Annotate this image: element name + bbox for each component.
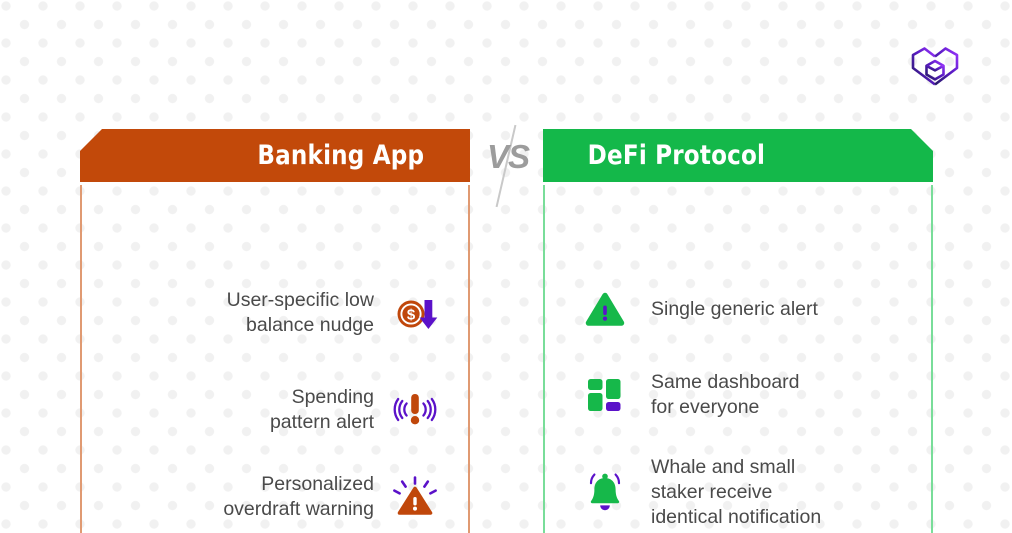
- list-item-label: User-specific low balance nudge: [227, 288, 374, 338]
- dashboard-grid-icon: [582, 372, 628, 418]
- hexagon-cube-logo-icon: [908, 43, 962, 91]
- svg-text:$: $: [407, 307, 416, 324]
- list-item-label: Personalized overdraft warning: [223, 472, 374, 522]
- list-item-label: Same dashboard for everyone: [651, 370, 800, 420]
- panel-banking-app: User-specific low balance nudge $ Spendi…: [80, 129, 470, 533]
- list-item: Single generic alert: [582, 286, 818, 332]
- list-item: Whale and small staker receive identical…: [582, 455, 821, 530]
- list-item-label: Whale and small staker receive identical…: [651, 455, 821, 530]
- list-item-label: Single generic alert: [651, 297, 818, 322]
- list-item-label: Spending pattern alert: [270, 385, 374, 435]
- panel-header-banking-app: Banking App: [80, 129, 470, 182]
- list-item: Personalized overdraft warning: [223, 472, 438, 522]
- warning-triangle-rays-icon: [392, 474, 438, 520]
- vs-divider: VS: [475, 124, 541, 208]
- panel-title: Banking App: [258, 140, 425, 171]
- panel-body-defi-protocol: Single generic alert Same dashboard for …: [543, 185, 933, 533]
- panel-title: DeFi Protocol: [588, 140, 765, 171]
- list-item: Same dashboard for everyone: [582, 370, 800, 420]
- panel-defi-protocol: Single generic alert Same dashboard for …: [543, 129, 933, 533]
- vs-label: VS: [475, 138, 541, 176]
- exclamation-signal-alert-icon: [392, 387, 438, 433]
- notification-bell-icon: [582, 470, 628, 516]
- panel-header-defi-protocol: DeFi Protocol: [543, 129, 933, 182]
- alert-triangle-icon: [582, 286, 628, 332]
- list-item: User-specific low balance nudge $: [227, 288, 438, 338]
- list-item: Spending pattern alert: [270, 385, 438, 435]
- coin-dollar-down-arrow-icon: $: [392, 290, 438, 336]
- panel-body-banking-app: User-specific low balance nudge $ Spendi…: [80, 185, 470, 533]
